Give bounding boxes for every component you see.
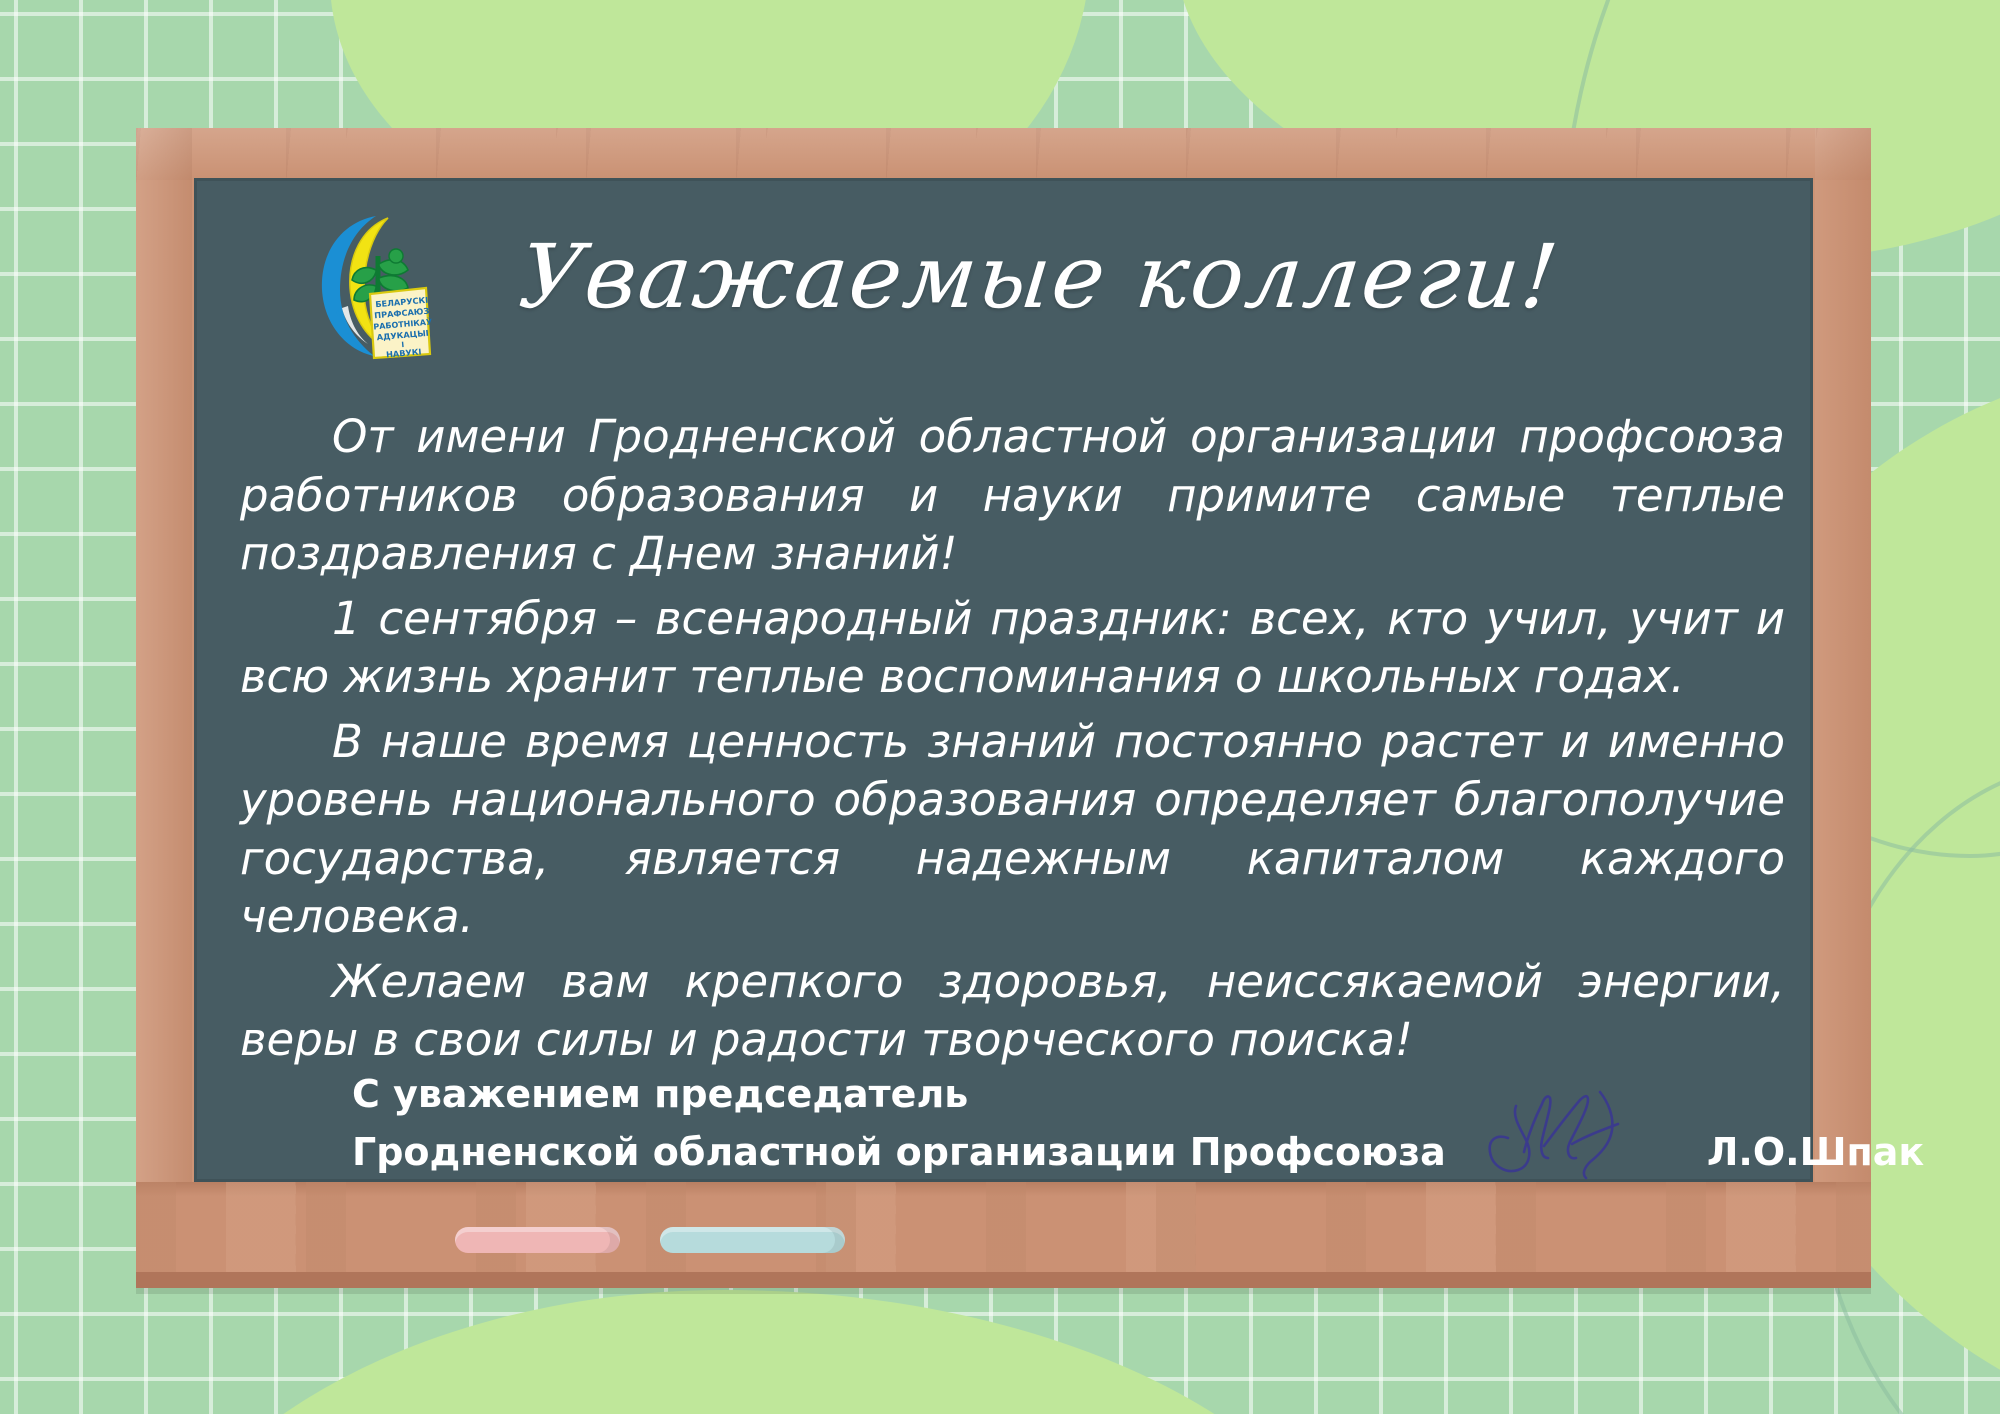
page-title: Уважаемые коллеги! [515, 232, 1524, 322]
poster-canvas: БЕЛАРУСКІ ПРАФСАЮЗ РАБОТНІКАЎ АДУКАЦЫІ І… [0, 0, 2000, 1414]
signature-role-row: Гродненской областной организации Профсо… [352, 1120, 1782, 1184]
trade-union-logo: БЕЛАРУСКІ ПРАФСАЮЗ РАБОТНІКАЎ АДУКАЦЫІ І… [318, 212, 438, 360]
blue-chalk-icon [660, 1227, 845, 1253]
frame-bevel-left [136, 128, 192, 1288]
greeting-body: От имени Гродненской областной организац… [240, 408, 1785, 1070]
greeting-paragraph-3: В наше время ценность знаний постоянно р… [240, 713, 1785, 947]
handwritten-signature-icon [1472, 1074, 1647, 1184]
svg-text:НАВУКІ: НАВУКІ [386, 346, 422, 359]
signature-organization: Гродненской областной организации Профсо… [352, 1126, 1446, 1178]
greeting-paragraph-1: От имени Гродненской областной организац… [240, 408, 1785, 584]
frame-bevel-right [1815, 128, 1871, 1288]
frame-bevel-top [136, 128, 1871, 180]
greeting-paragraph-4: Желаем вам крепкого здоровья, неиссякаем… [240, 953, 1785, 1070]
ledge-wood-grain [136, 1182, 1871, 1288]
pink-chalk-icon [455, 1227, 620, 1253]
chalkboard-ledge [136, 1182, 1871, 1288]
signatory-name: Л.О.Шпак [1707, 1126, 1924, 1178]
signature-block: С уважением председатель Гродненской обл… [352, 1068, 1782, 1184]
greeting-paragraph-2: 1 сентября – всенародный праздник: всех,… [240, 590, 1785, 707]
